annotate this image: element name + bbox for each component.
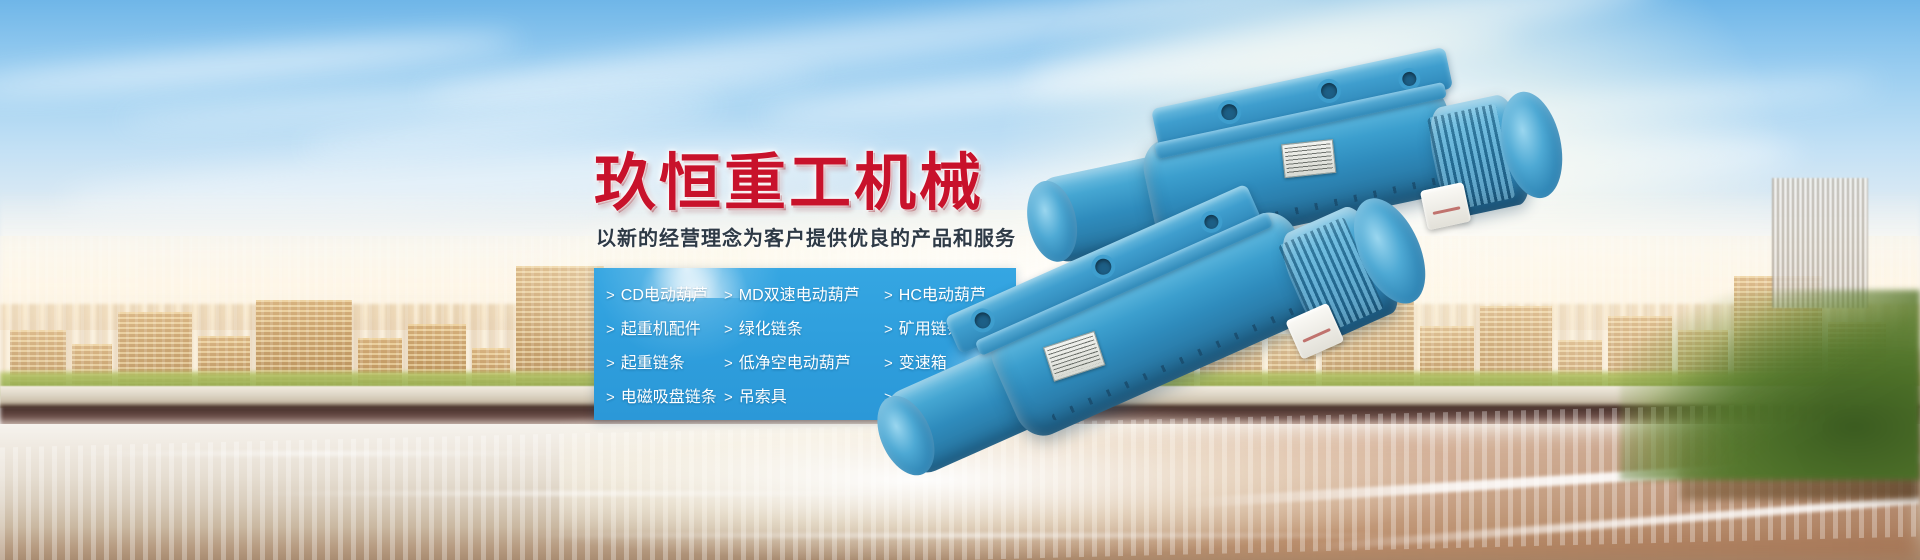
product-category-link[interactable]: >CD电动葫芦	[606, 281, 724, 305]
chevron-right-icon: >	[606, 287, 615, 304]
product-category-link[interactable]: >MD双速电动葫芦	[724, 281, 884, 305]
hoist-junction-box	[1420, 182, 1471, 230]
hero-banner: 玖恒重工机械 以新的经营理念为客户提供优良的产品和服务 >CD电动葫芦>MD双速…	[0, 0, 1920, 560]
page-title: 玖恒重工机械	[594, 132, 984, 222]
chevron-right-icon: >	[884, 287, 893, 304]
chevron-right-icon: >	[606, 321, 615, 338]
speed-line	[60, 452, 580, 455]
tagline: 以新的经营理念为客户提供优良的产品和服务	[596, 222, 1016, 251]
chevron-right-icon: >	[606, 389, 615, 406]
chevron-right-icon: >	[606, 355, 615, 372]
speed-line	[240, 492, 940, 495]
product-category-label: 起重链条	[621, 349, 685, 373]
product-category-label: 电磁吸盘链条	[621, 383, 717, 407]
chevron-right-icon: >	[724, 321, 733, 338]
product-category-link[interactable]: >起重机配件	[606, 315, 724, 339]
chevron-right-icon: >	[724, 389, 733, 406]
product-category-link[interactable]: >起重链条	[606, 349, 724, 373]
product-category-link[interactable]: >吊索具	[724, 383, 884, 407]
product-category-label: CD电动葫芦	[621, 281, 708, 305]
product-category-label: 吊索具	[739, 383, 787, 407]
background-tower	[1772, 178, 1868, 308]
product-category-link[interactable]: >电磁吸盘链条	[606, 383, 724, 407]
product-category-label: 起重机配件	[621, 315, 701, 339]
product-category-label: 绿化链条	[739, 315, 803, 339]
product-category-label: MD双速电动葫芦	[739, 281, 860, 305]
chevron-right-icon: >	[724, 355, 733, 372]
hillside-vegetation	[1620, 290, 1920, 480]
product-category-label: 低净空电动葫芦	[739, 349, 851, 373]
chevron-right-icon: >	[724, 287, 733, 304]
